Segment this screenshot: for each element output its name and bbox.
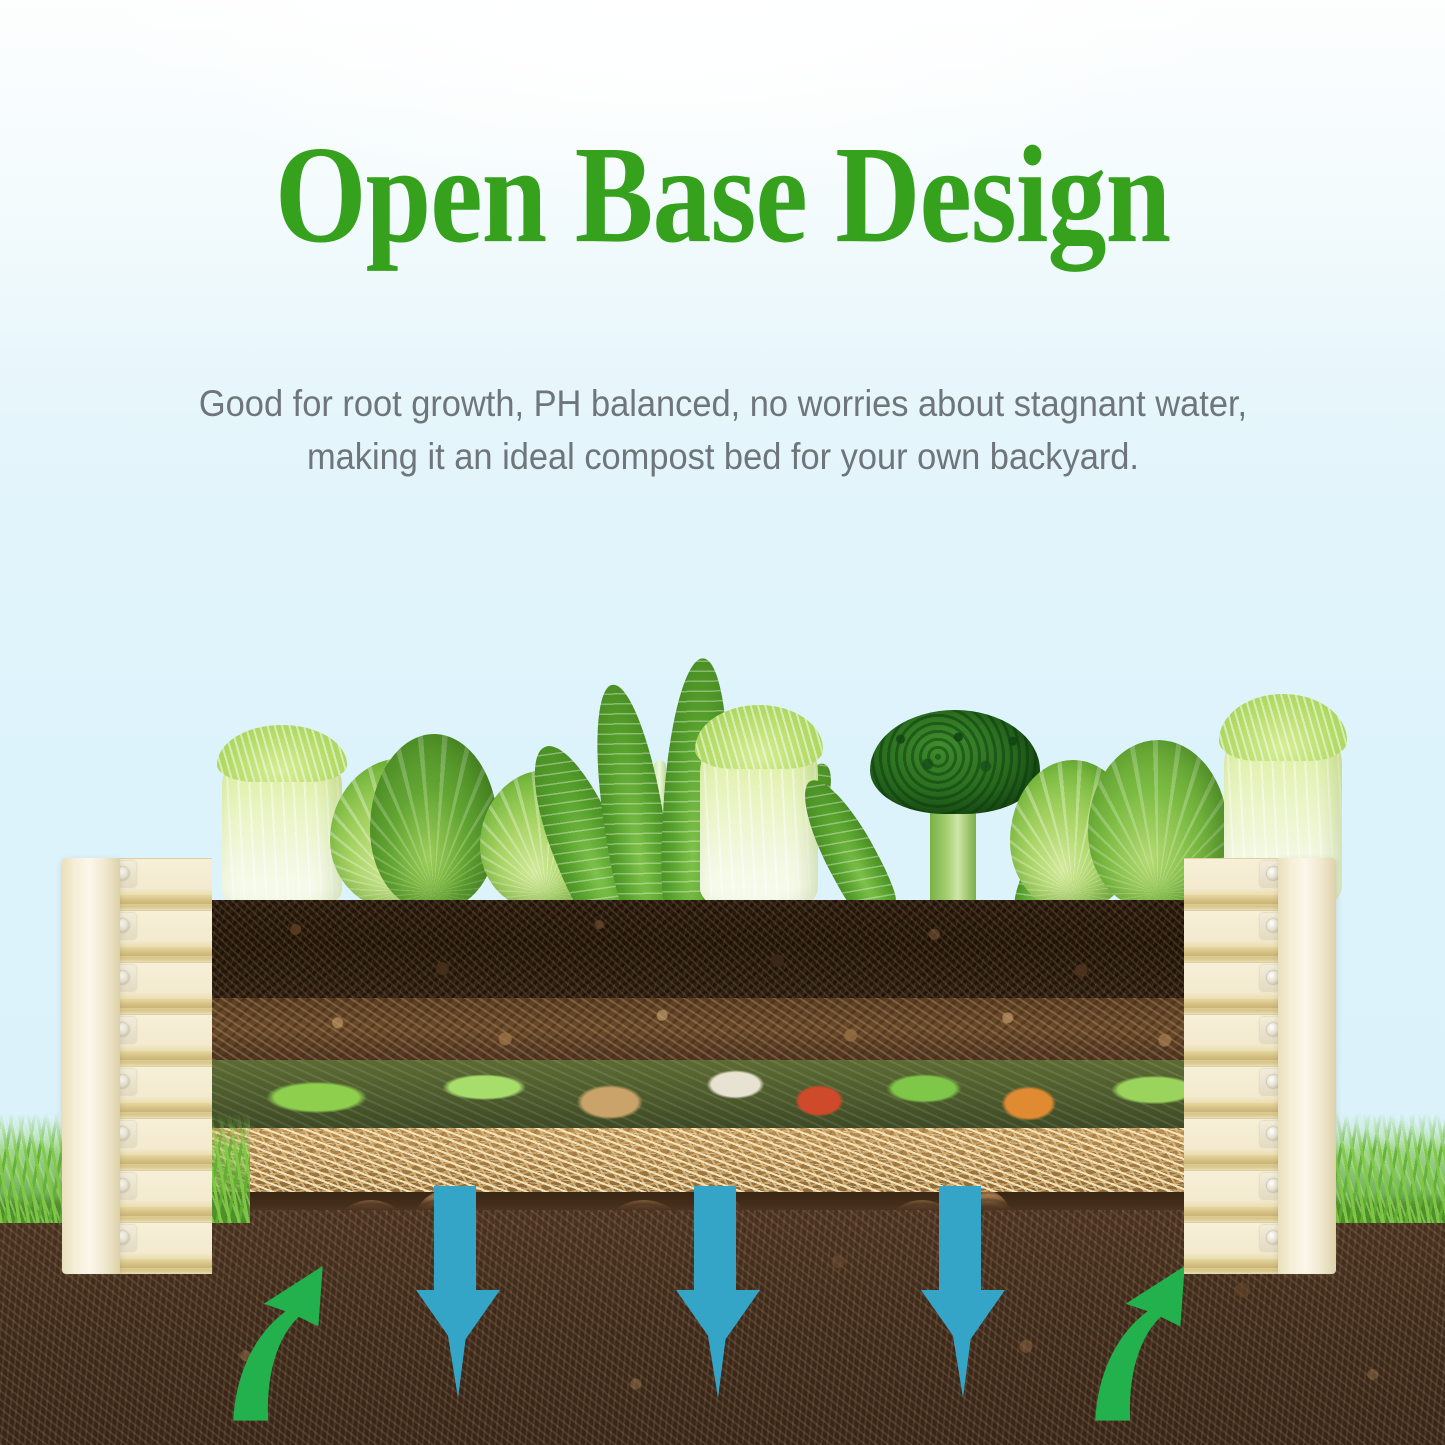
arrow-down-2: [660, 1186, 770, 1398]
veg-bok-choy: [700, 724, 818, 910]
food-scraps-layer: [212, 1060, 1259, 1128]
product-feature-image: Open Base Design Good for root growth, P…: [0, 0, 1445, 1445]
bed-panel-right: [1184, 858, 1336, 1274]
arrow-down-3: [905, 1186, 1015, 1398]
panel-slats-left: [108, 858, 212, 1274]
subtitle-line-1: Good for root growth, PH balanced, no wo…: [198, 383, 1246, 424]
topsoil-layer: [212, 900, 1259, 998]
broccoli-head: [870, 710, 1040, 814]
subtitle-line-2: making it an ideal compost bed for your …: [306, 436, 1138, 477]
arrow-up-1: [218, 1232, 338, 1432]
page-title: Open Base Design: [0, 122, 1445, 268]
veg-green-cabbage-2: [370, 734, 498, 910]
compost-layer: [212, 998, 1259, 1060]
panel-slats-right: [1184, 858, 1288, 1274]
arrow-up-2: [1080, 1232, 1200, 1432]
arrow-down-1: [400, 1186, 510, 1398]
bed-panel-left: [62, 858, 212, 1274]
corner-post-left: [62, 858, 120, 1274]
page-subtitle: Good for root growth, PH balanced, no wo…: [113, 378, 1331, 483]
corner-post-right: [1278, 858, 1336, 1274]
straw-layer: [212, 1128, 1259, 1192]
veg-napa-cabbage: [222, 742, 342, 910]
